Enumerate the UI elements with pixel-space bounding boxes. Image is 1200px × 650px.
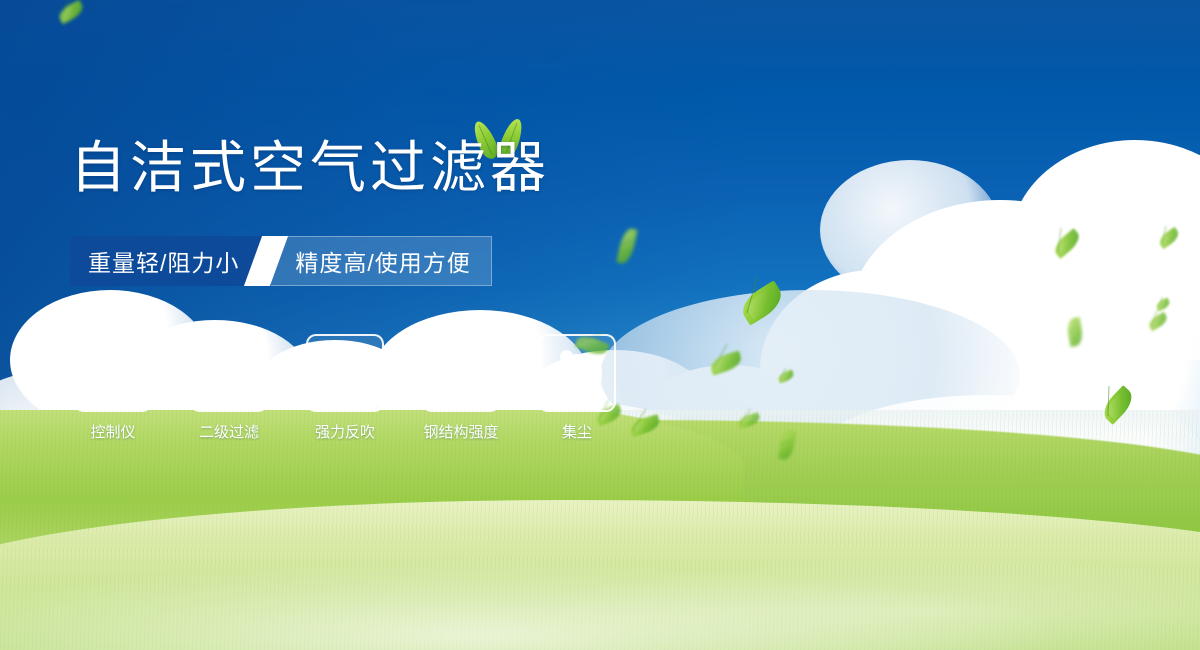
feature-icon-box: NO OFF xyxy=(74,334,152,412)
feature-caption: 钢结构强度 xyxy=(423,421,498,442)
product-banner: 自洁式空气过滤器 重量轻/阻力小 精度高/使用方便 xyxy=(0,0,1200,650)
feature-item-control: NO OFF 控制仪 xyxy=(70,334,156,442)
page-title: 自洁式空气过滤器 xyxy=(70,140,550,196)
feature-item-blowback: 强力反吹 xyxy=(302,334,388,442)
feature-caption: 控制仪 xyxy=(90,421,135,442)
gauge-label-no: NO xyxy=(79,368,89,374)
gauge-label-off: OFF xyxy=(133,391,146,397)
gauge-switch-bar xyxy=(108,351,118,393)
feature-icon-box: 0.6～0.8 MPA xyxy=(190,334,268,412)
subtitle-right: 精度高/使用方便 xyxy=(271,236,491,286)
subtitle-bar: 重量轻/阻力小 精度高/使用方便 xyxy=(70,236,492,286)
filter-cartridge-icon xyxy=(319,344,371,402)
pressure-text-icon: 0.6～0.8 MPA xyxy=(197,354,261,392)
feature-list: NO OFF 控制仪 0.6～0.8 MPA 二级过滤 xyxy=(70,334,620,442)
air-cloud-icon: Air xyxy=(548,350,606,396)
grass-sheen-highlight xyxy=(0,470,1200,650)
steel-thickness: 3～8MM xyxy=(430,354,493,373)
feature-caption: 集尘 xyxy=(562,421,592,442)
subtitle-left: 重量轻/阻力小 xyxy=(70,236,261,286)
feature-caption: 二级过滤 xyxy=(199,421,259,442)
air-label: Air xyxy=(548,392,606,407)
feature-icon-box: 3～8MM 钢板 xyxy=(422,334,500,412)
feature-caption: 强力反吹 xyxy=(315,421,375,442)
feature-item-steel: 3～8MM 钢板 钢结构强度 xyxy=(418,334,504,442)
pressure-unit: MPA xyxy=(197,373,261,392)
control-gauge-icon: NO OFF xyxy=(80,342,146,404)
steel-plate-text-icon: 3～8MM 钢板 xyxy=(430,354,493,392)
steel-material: 钢板 xyxy=(430,373,493,392)
feature-icon-box xyxy=(306,334,384,412)
feature-item-filtration: 0.6～0.8 MPA 二级过滤 xyxy=(186,334,272,442)
grass-field xyxy=(0,410,1200,650)
pressure-value: 0.6～0.8 xyxy=(197,354,261,373)
